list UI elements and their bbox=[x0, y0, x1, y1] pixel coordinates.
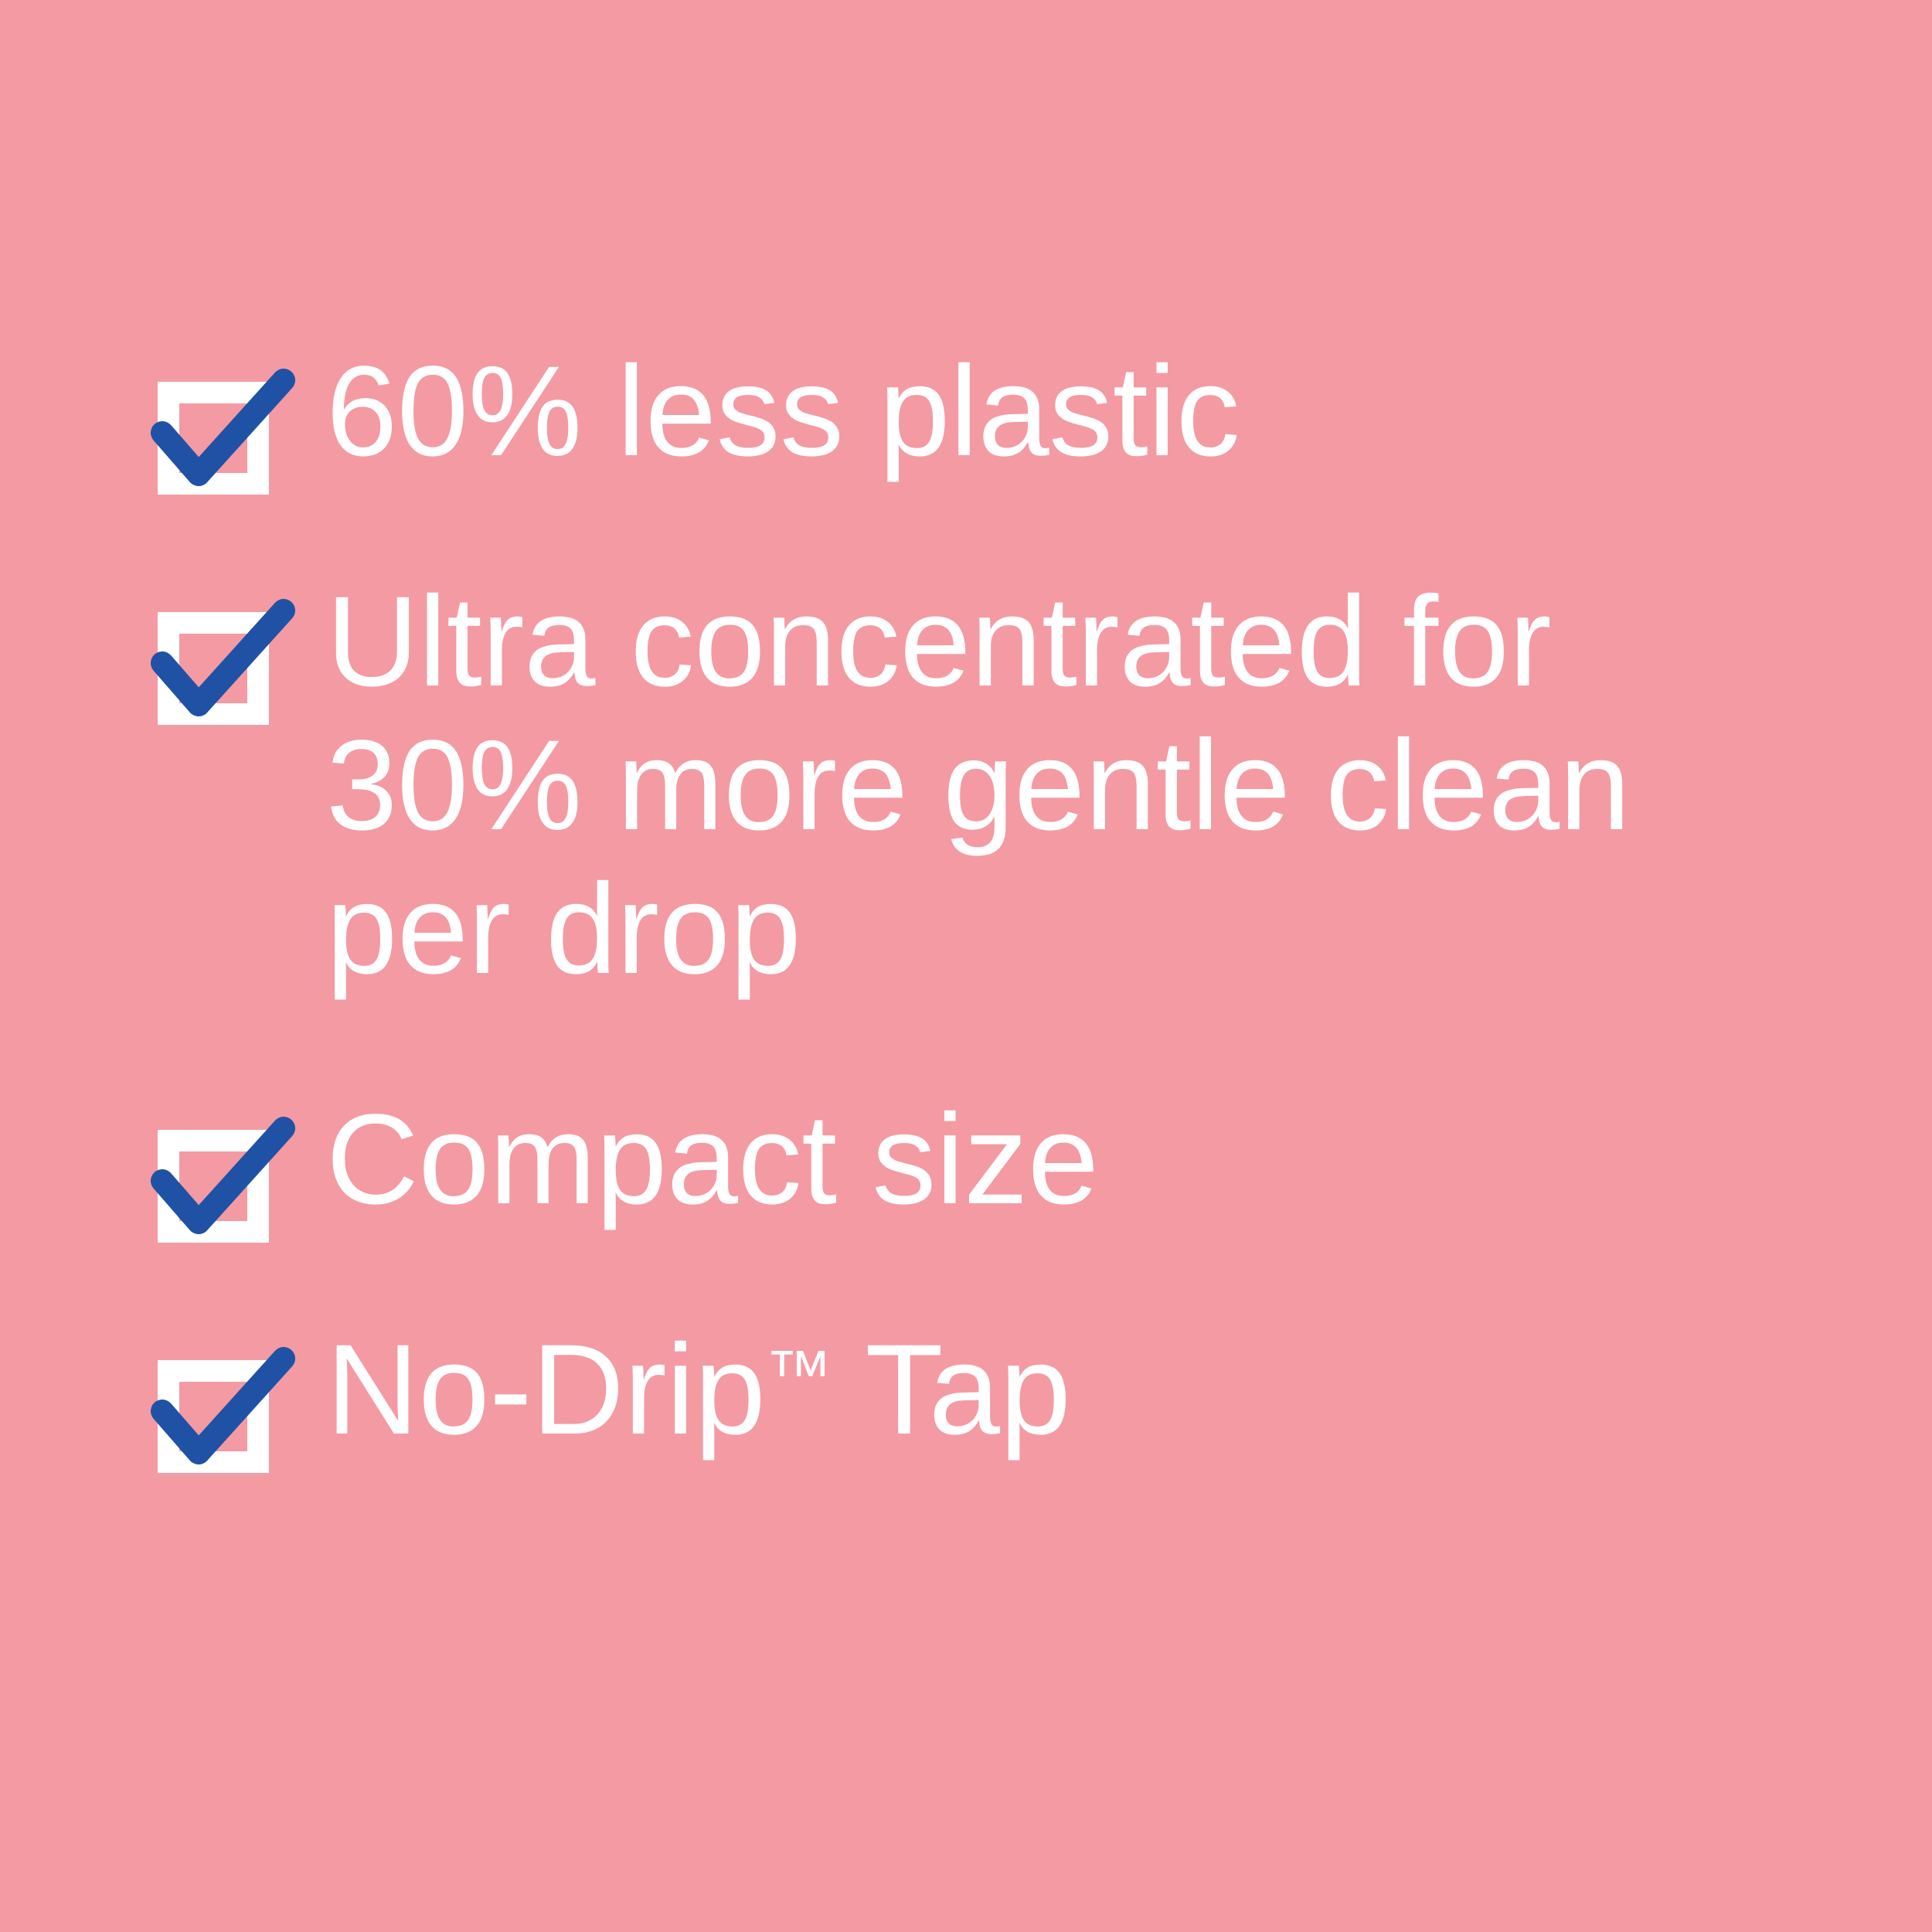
list-item-label: No-Drip™ Tap bbox=[326, 1318, 1816, 1462]
checked-checkbox-icon bbox=[155, 1124, 309, 1255]
checked-checkbox-icon bbox=[155, 606, 309, 737]
checked-checkbox-icon bbox=[155, 1354, 309, 1485]
benefits-poster: 60% less plastic Ultra concentrated for … bbox=[0, 0, 1932, 1932]
trademark-symbol: ™ bbox=[765, 1337, 832, 1411]
list-item-label: Ultra concentrated for 30% more gentle c… bbox=[326, 570, 1816, 1002]
list-item: No-Drip™ Tap bbox=[155, 1318, 1816, 1462]
list-item-label: Compact size bbox=[326, 1088, 1816, 1232]
tap-text: Tap bbox=[832, 1318, 1071, 1461]
list-item: Ultra concentrated for 30% more gentle c… bbox=[155, 570, 1816, 1002]
product-benefits-checklist: 60% less plastic Ultra concentrated for … bbox=[155, 340, 1816, 1461]
no-drip-text: No-Drip bbox=[326, 1318, 765, 1461]
list-item: Compact size bbox=[155, 1088, 1816, 1232]
list-item-label: 60% less plastic bbox=[326, 340, 1816, 484]
list-item: 60% less plastic bbox=[155, 340, 1816, 484]
checked-checkbox-icon bbox=[155, 376, 309, 507]
